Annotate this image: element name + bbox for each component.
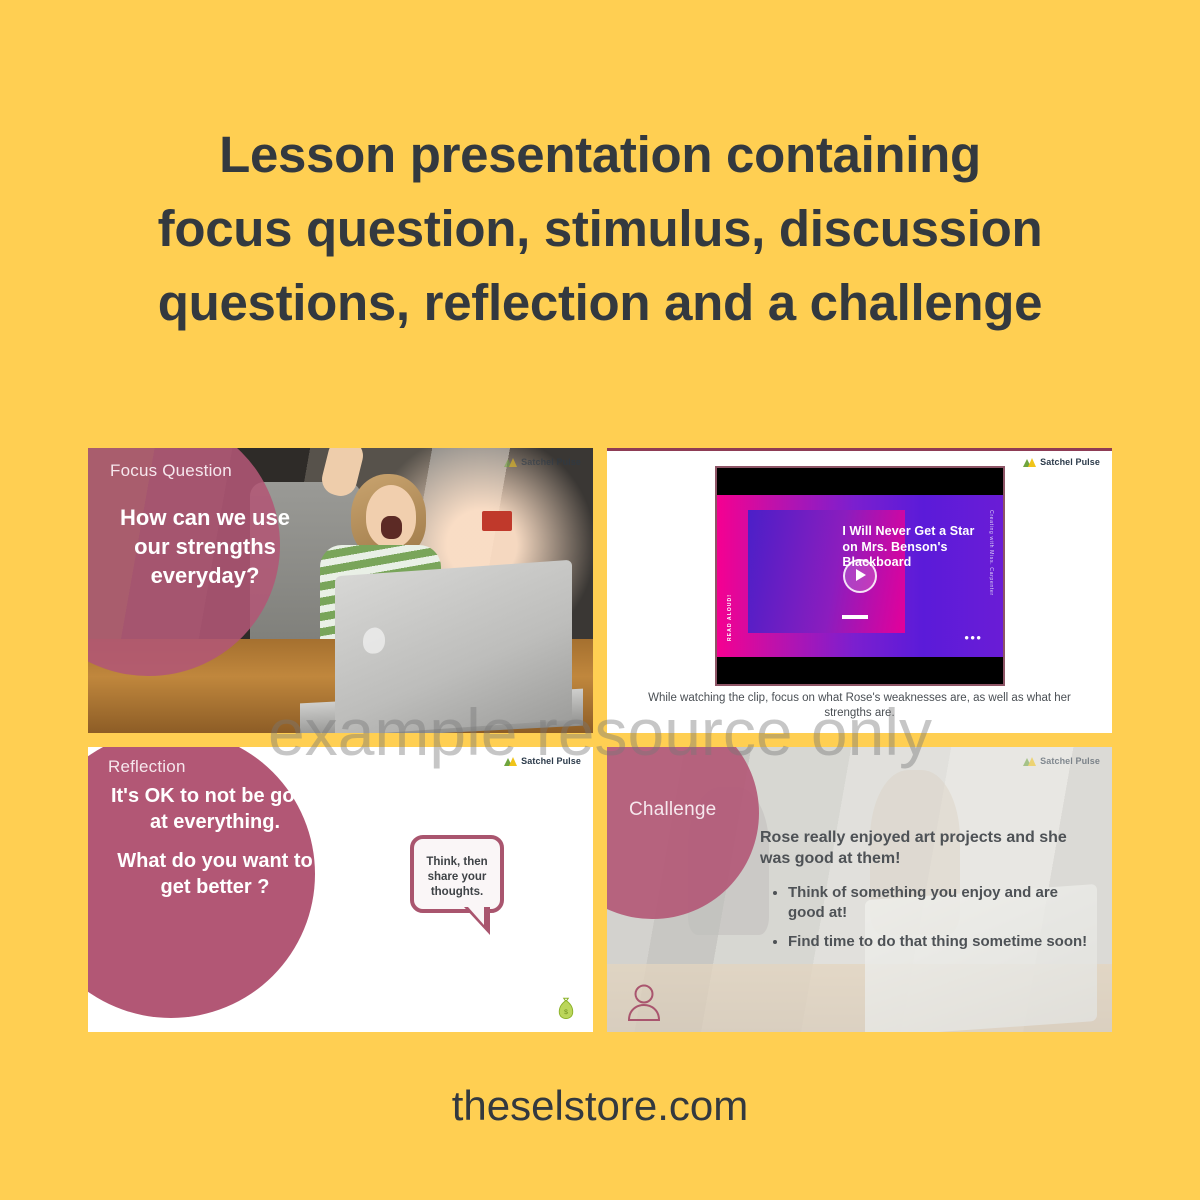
reflection-statement: It's OK to not be good at everything. xyxy=(100,783,330,835)
poster-canvas: Lesson presentation containing focus que… xyxy=(0,0,1200,1200)
slide-stimulus[interactable]: Satchel Pulse READ ALOUD! Creating with … xyxy=(607,448,1112,733)
list-item: Think of something you enjoy and are goo… xyxy=(788,883,1098,923)
brand-logo: Satchel Pulse xyxy=(1023,457,1100,467)
person-icon xyxy=(627,982,661,1022)
brand-name: Satchel Pulse xyxy=(1040,756,1100,766)
money-bag-icon: $ xyxy=(557,996,575,1020)
challenge-lead: Rose really enjoyed art projects and she… xyxy=(760,827,1098,869)
brand-logo: Satchel Pulse xyxy=(504,457,581,467)
focus-question-text: How can we use our strengths everyday? xyxy=(110,503,300,590)
slide-kicker-reflection: Reflection xyxy=(108,757,186,777)
mountains-icon xyxy=(1023,458,1036,467)
reflection-text-block: It's OK to not be good at everything. Wh… xyxy=(100,783,330,900)
child-mouth-shape xyxy=(381,516,402,539)
brand-name: Satchel Pulse xyxy=(521,756,581,766)
slide-reflection[interactable]: Satchel Pulse Reflection It's OK to not … xyxy=(88,747,593,1032)
footer-url: theselstore.com xyxy=(0,1082,1200,1130)
laptop-screen-shape xyxy=(335,559,572,733)
brand-logo: Satchel Pulse xyxy=(1023,756,1100,766)
exit-sign-shape xyxy=(482,511,512,531)
title-underline xyxy=(842,615,868,619)
slide-grid: Focus Question How can we use our streng… xyxy=(88,448,1112,1032)
mountains-icon xyxy=(504,757,517,766)
slide-focus-question[interactable]: Focus Question How can we use our streng… xyxy=(88,448,593,733)
page-title-line-2: focus question, stimulus, discussion xyxy=(60,192,1140,266)
speech-bubble-text: Think, then share your thoughts. xyxy=(414,855,500,900)
mountains-icon xyxy=(1023,757,1036,766)
slide-kicker-challenge: Challenge xyxy=(629,799,716,821)
video-embed[interactable]: READ ALOUD! Creating with Miss. Carpente… xyxy=(715,466,1005,686)
stimulus-caption: While watching the clip, focus on what R… xyxy=(633,691,1086,720)
slide-kicker-focus-question: Focus Question xyxy=(110,461,232,481)
letterbox-top xyxy=(717,468,1003,495)
read-aloud-badge: READ ALOUD! xyxy=(727,594,733,641)
mountains-icon xyxy=(504,458,517,467)
page-title-line-1: Lesson presentation containing xyxy=(60,118,1140,192)
brand-name: Satchel Pulse xyxy=(521,457,581,467)
page-title: Lesson presentation containing focus que… xyxy=(0,118,1200,340)
brand-name: Satchel Pulse xyxy=(1040,457,1100,467)
slide-challenge[interactable]: Challenge Satchel Pulse Rose really enjo… xyxy=(607,747,1112,1032)
page-title-line-3: questions, reflection and a challenge xyxy=(60,266,1140,340)
challenge-bullet-list: Think of something you enjoy and are goo… xyxy=(760,883,1098,952)
reflection-question: What do you want to get better ? xyxy=(100,848,330,900)
play-icon[interactable] xyxy=(843,559,877,593)
speech-bubble-icon: Think, then share your thoughts. xyxy=(410,835,504,913)
list-item: Find time to do that thing sometime soon… xyxy=(788,932,1098,952)
slide-top-rule xyxy=(607,448,1112,451)
letterbox-bottom xyxy=(717,657,1003,684)
more-options-icon[interactable]: ••• xyxy=(964,634,982,642)
challenge-body: Rose really enjoyed art projects and she… xyxy=(760,827,1098,961)
brand-logo: Satchel Pulse xyxy=(504,756,581,766)
svg-text:$: $ xyxy=(564,1009,568,1016)
